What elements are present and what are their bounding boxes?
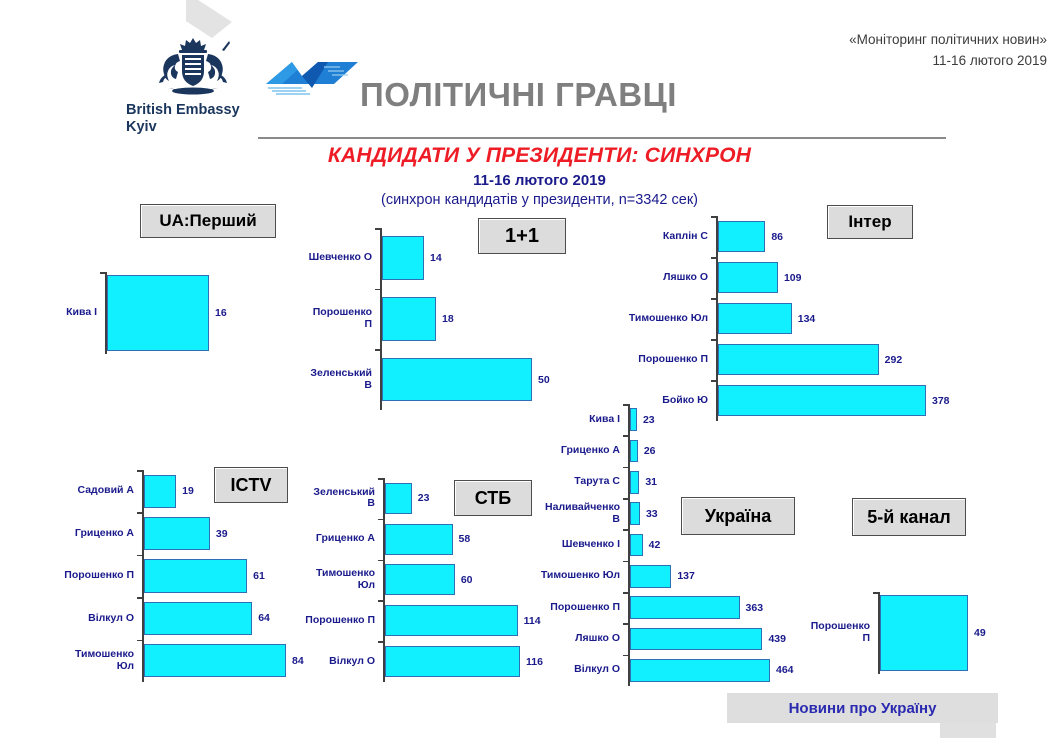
axis-tick <box>623 498 628 500</box>
axis-tick <box>711 380 716 382</box>
bar <box>385 524 453 555</box>
bar-value-label: 23 <box>643 414 655 426</box>
embassy-line-2: Kyiv <box>126 119 268 136</box>
channel-label-ua_pershyi: UA:Перший <box>140 204 276 238</box>
bar-value-label: 39 <box>216 528 228 540</box>
axis-tick <box>623 655 628 657</box>
axis-tick <box>623 404 628 406</box>
category-label: Порошенко П <box>540 596 620 620</box>
bar-value-label: 33 <box>646 508 658 520</box>
category-label: Зеленський В <box>304 368 372 392</box>
ukrzaliznytsia-logo-icon <box>262 58 358 103</box>
axis-tick <box>137 640 142 642</box>
axis-tick <box>137 470 142 472</box>
axis-tick <box>378 600 383 602</box>
category-label: Гриценко А <box>60 522 134 546</box>
axis-tick <box>623 561 628 563</box>
axis-tick <box>378 519 383 521</box>
category-label: Каплін С <box>620 225 708 249</box>
page-title: ПОЛІТИЧНІ ГРАВЦІ <box>360 76 677 114</box>
bar <box>630 565 671 588</box>
bar <box>144 475 176 508</box>
bar <box>382 236 424 280</box>
bar <box>385 605 518 636</box>
section-dates: 11-16 лютого 2019 <box>0 172 1063 189</box>
bar-value-label: 64 <box>258 612 270 624</box>
axis-tick <box>623 592 628 594</box>
bar <box>144 517 210 550</box>
axis-tick <box>137 555 142 557</box>
bar-value-label: 19 <box>182 485 194 497</box>
bar <box>630 596 740 619</box>
bar <box>718 221 765 253</box>
bar <box>385 483 412 514</box>
bar-value-label: 84 <box>292 655 304 667</box>
bar-value-label: 137 <box>677 570 695 582</box>
category-label: Порошенко П <box>60 564 134 588</box>
bar-value-label: 134 <box>798 313 816 325</box>
chart-five_kanal: Порошенко П49 <box>878 592 1026 674</box>
axis-tick <box>375 228 380 230</box>
axis-tick <box>711 298 716 300</box>
chart-one_plus_one: Шевченко О14Порошенко П18Зеленський В50 <box>380 228 590 410</box>
bar-value-label: 23 <box>418 492 430 504</box>
bar <box>382 358 532 402</box>
category-label: Порошенко П <box>812 621 870 645</box>
category-label: Гриценко А <box>305 527 375 551</box>
category-label: Порошенко П <box>304 307 372 331</box>
category-label: Вілкул О <box>540 658 620 682</box>
bar <box>630 440 638 463</box>
axis-tick <box>100 272 105 274</box>
bar <box>144 602 252 635</box>
bar-value-label: 61 <box>253 570 265 582</box>
bar <box>880 595 968 670</box>
bar-value-label: 109 <box>784 272 802 284</box>
embassy-label: British Embassy Kyiv <box>118 102 268 136</box>
category-label: Шевченко О <box>304 246 372 270</box>
bar-value-label: 31 <box>645 476 657 488</box>
bar-value-label: 49 <box>974 627 986 639</box>
bar-value-label: 464 <box>776 664 794 676</box>
category-label: Тимошенко Юл <box>60 649 134 673</box>
axis-tick <box>375 349 380 351</box>
bar-value-label: 14 <box>430 252 442 264</box>
axis-tick <box>623 529 628 531</box>
bar-value-label: 292 <box>885 354 903 366</box>
bar <box>630 502 640 525</box>
channel-label-text: UA:Перший <box>159 211 256 231</box>
monitoring-dates: 11-16 лютого 2019 <box>849 51 1047 72</box>
category-label: Тарута С <box>540 470 620 494</box>
bar <box>718 303 792 335</box>
category-label: Порошенко П <box>620 348 708 372</box>
channel-label-text: 5-й канал <box>867 507 950 528</box>
bar-value-label: 378 <box>932 395 950 407</box>
bar <box>630 534 643 557</box>
axis-tick <box>873 592 878 594</box>
bar-value-label: 16 <box>215 307 227 319</box>
bar <box>718 344 879 376</box>
bar-value-label: 86 <box>771 231 783 243</box>
bar <box>718 262 778 294</box>
bar <box>630 408 637 431</box>
category-label: Тимошенко Юл <box>620 307 708 331</box>
bar <box>630 471 639 494</box>
bar-value-label: 50 <box>538 374 550 386</box>
axis-tick <box>137 597 142 599</box>
british-embassy-logo: British Embassy Kyiv <box>118 36 268 136</box>
bar-value-label: 114 <box>524 615 541 627</box>
bar <box>382 297 436 341</box>
axis-tick <box>711 216 716 218</box>
axis-tick <box>711 339 716 341</box>
axis-tick <box>711 257 716 259</box>
axis-tick <box>378 478 383 480</box>
axis-tick <box>623 623 628 625</box>
bar <box>630 628 762 651</box>
monitoring-header: «Моніторинг політичних новин» 11-16 люто… <box>849 30 1047 72</box>
bar-value-label: 60 <box>461 574 473 586</box>
bar-value-label: 26 <box>644 445 656 457</box>
header-divider <box>258 137 946 139</box>
axis-tick <box>623 435 628 437</box>
axis-tick <box>137 512 142 514</box>
bar <box>144 644 286 677</box>
category-label: Тимошенко Юл <box>540 564 620 588</box>
bar <box>144 559 247 592</box>
category-label: Ляшко О <box>620 266 708 290</box>
category-label: Кива І <box>39 301 97 325</box>
category-label: Садовий А <box>60 479 134 503</box>
category-label: Порошенко П <box>305 609 375 633</box>
category-label: Гриценко А <box>540 439 620 463</box>
category-label: Зеленський В <box>305 486 375 510</box>
axis-tick <box>375 289 380 291</box>
category-label: Наливайченко В <box>540 502 620 526</box>
slide-root: «Моніторинг політичних новин» 11-16 люто… <box>0 0 1063 740</box>
category-label: Тимошенко Юл <box>305 568 375 592</box>
category-label: Шевченко І <box>540 533 620 557</box>
footer-banner[interactable]: Новини про Україну <box>727 693 998 723</box>
axis-tick <box>378 641 383 643</box>
royal-crest-icon <box>134 36 252 98</box>
bar-value-label: 42 <box>649 539 661 551</box>
channel-label-five_kanal: 5-й канал <box>852 498 966 536</box>
footer-label: Новини про Україну <box>789 700 937 717</box>
category-label: Кива І <box>540 408 620 432</box>
bar-value-label: 439 <box>768 633 786 645</box>
axis-tick <box>378 560 383 562</box>
bar-value-label: 58 <box>459 533 471 545</box>
monitoring-title: «Моніторинг політичних новин» <box>849 30 1047 51</box>
bar <box>385 564 455 595</box>
bar <box>385 646 520 677</box>
chart-ua_pershyi: Кива І16 <box>105 272 267 354</box>
section-title: КАНДИДАТИ У ПРЕЗИДЕНТИ: СИНХРОН <box>0 144 1063 168</box>
bar <box>630 659 770 682</box>
bar-value-label: 363 <box>746 602 764 614</box>
bar-value-label: 18 <box>442 313 454 325</box>
chart-inter: Каплін С86Ляшко О109Тимошенко Юл134Порош… <box>716 216 984 421</box>
category-label: Вілкул О <box>305 650 375 674</box>
embassy-line-1: British Embassy <box>126 102 268 119</box>
category-label: Ляшко О <box>540 627 620 651</box>
category-label: Вілкул О <box>60 606 134 630</box>
axis-tick <box>623 467 628 469</box>
bar <box>107 275 209 350</box>
chart-ukraina: Кива І23Гриценко А26Тарута С31Наливайчен… <box>628 404 828 686</box>
